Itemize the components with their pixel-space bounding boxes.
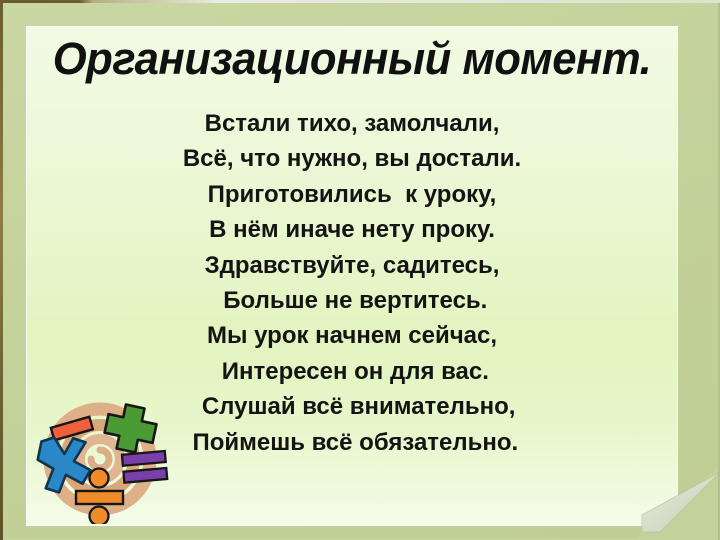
poem-line: Мы урок начнем сейчас,	[26, 318, 678, 353]
page-curl-icon	[634, 466, 720, 540]
poem-line: Интересен он для вас.	[26, 354, 678, 389]
poem-line: Здравствуйте, садитесь,	[26, 248, 678, 283]
poem-line: Приготовились к уроку,	[26, 177, 678, 212]
poem-line: Всё, что нужно, вы достали.	[26, 141, 678, 176]
slide-edge-left	[0, 0, 3, 540]
poem-line: Встали тихо, замолчали,	[26, 106, 678, 141]
page-title: Организационный момент.	[36, 34, 668, 84]
slide-edge-top	[0, 0, 720, 3]
poem-line: Больше не вертитесь.	[26, 283, 678, 318]
poem-line: В нём иначе нету проку.	[26, 212, 678, 247]
math-symbols-clipart	[27, 396, 169, 524]
slide-canvas: Организационный момент. Встали тихо, зам…	[0, 0, 720, 540]
